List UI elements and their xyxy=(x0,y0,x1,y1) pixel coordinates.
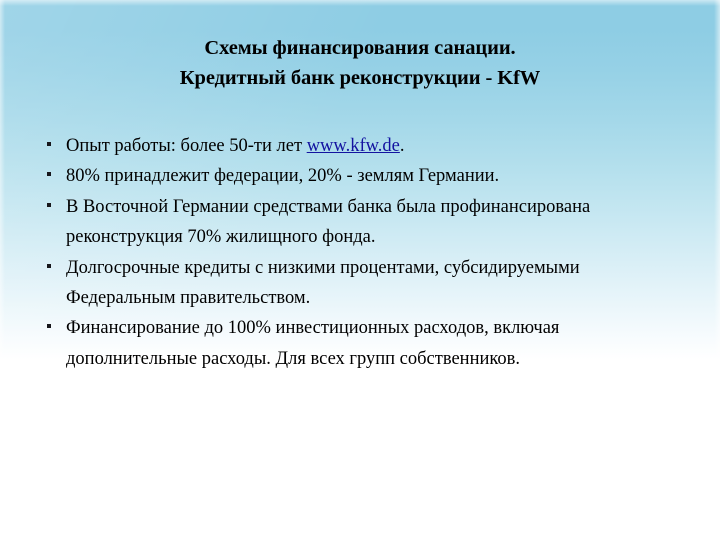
bullet-text-4: Долгосрочные кредиты с низкими процентам… xyxy=(66,253,680,314)
square-bullet-icon xyxy=(47,172,51,176)
list-item: Опыт работы: более 50-ти лет www.kfw.de. xyxy=(40,131,680,161)
slide-right-edge-highlight xyxy=(714,0,720,360)
list-item: Долгосрочные кредиты с низкими процентам… xyxy=(40,253,680,314)
list-item: В Восточной Германии средствами банка бы… xyxy=(40,192,680,253)
slide-title: Схемы финансирования санации. Кредитный … xyxy=(60,33,660,93)
slide-title-line-1: Схемы финансирования санации. xyxy=(60,33,660,63)
bullet-text-2: 80% принадлежит федерации, 20% - землям … xyxy=(66,161,680,191)
slide-left-edge-highlight xyxy=(0,0,5,360)
bullet-text-3: В Восточной Германии средствами банка бы… xyxy=(66,192,680,253)
slide-top-edge-highlight xyxy=(0,0,720,6)
bullet-text-1-prefix: Опыт работы: более 50-ти лет xyxy=(66,136,307,156)
square-bullet-icon xyxy=(47,264,51,268)
kfw-website-link[interactable]: www.kfw.de xyxy=(307,136,400,156)
square-bullet-icon xyxy=(47,203,51,207)
list-item: Финансирование до 100% инвестиционных ра… xyxy=(40,313,680,374)
slide-title-line-2: Кредитный банк реконструкции - KfW xyxy=(60,63,660,93)
presentation-slide: Схемы финансирования санации. Кредитный … xyxy=(0,0,720,540)
slide-bullet-list: Опыт работы: более 50-ти лет www.kfw.de.… xyxy=(40,131,680,374)
square-bullet-icon xyxy=(47,142,51,146)
square-bullet-icon xyxy=(47,324,51,328)
list-item: 80% принадлежит федерации, 20% - землям … xyxy=(40,161,680,191)
bullet-text-1: Опыт работы: более 50-ти лет www.kfw.de. xyxy=(66,131,680,161)
bullet-text-1-suffix: . xyxy=(400,136,405,156)
bullet-text-5: Финансирование до 100% инвестиционных ра… xyxy=(66,313,680,374)
